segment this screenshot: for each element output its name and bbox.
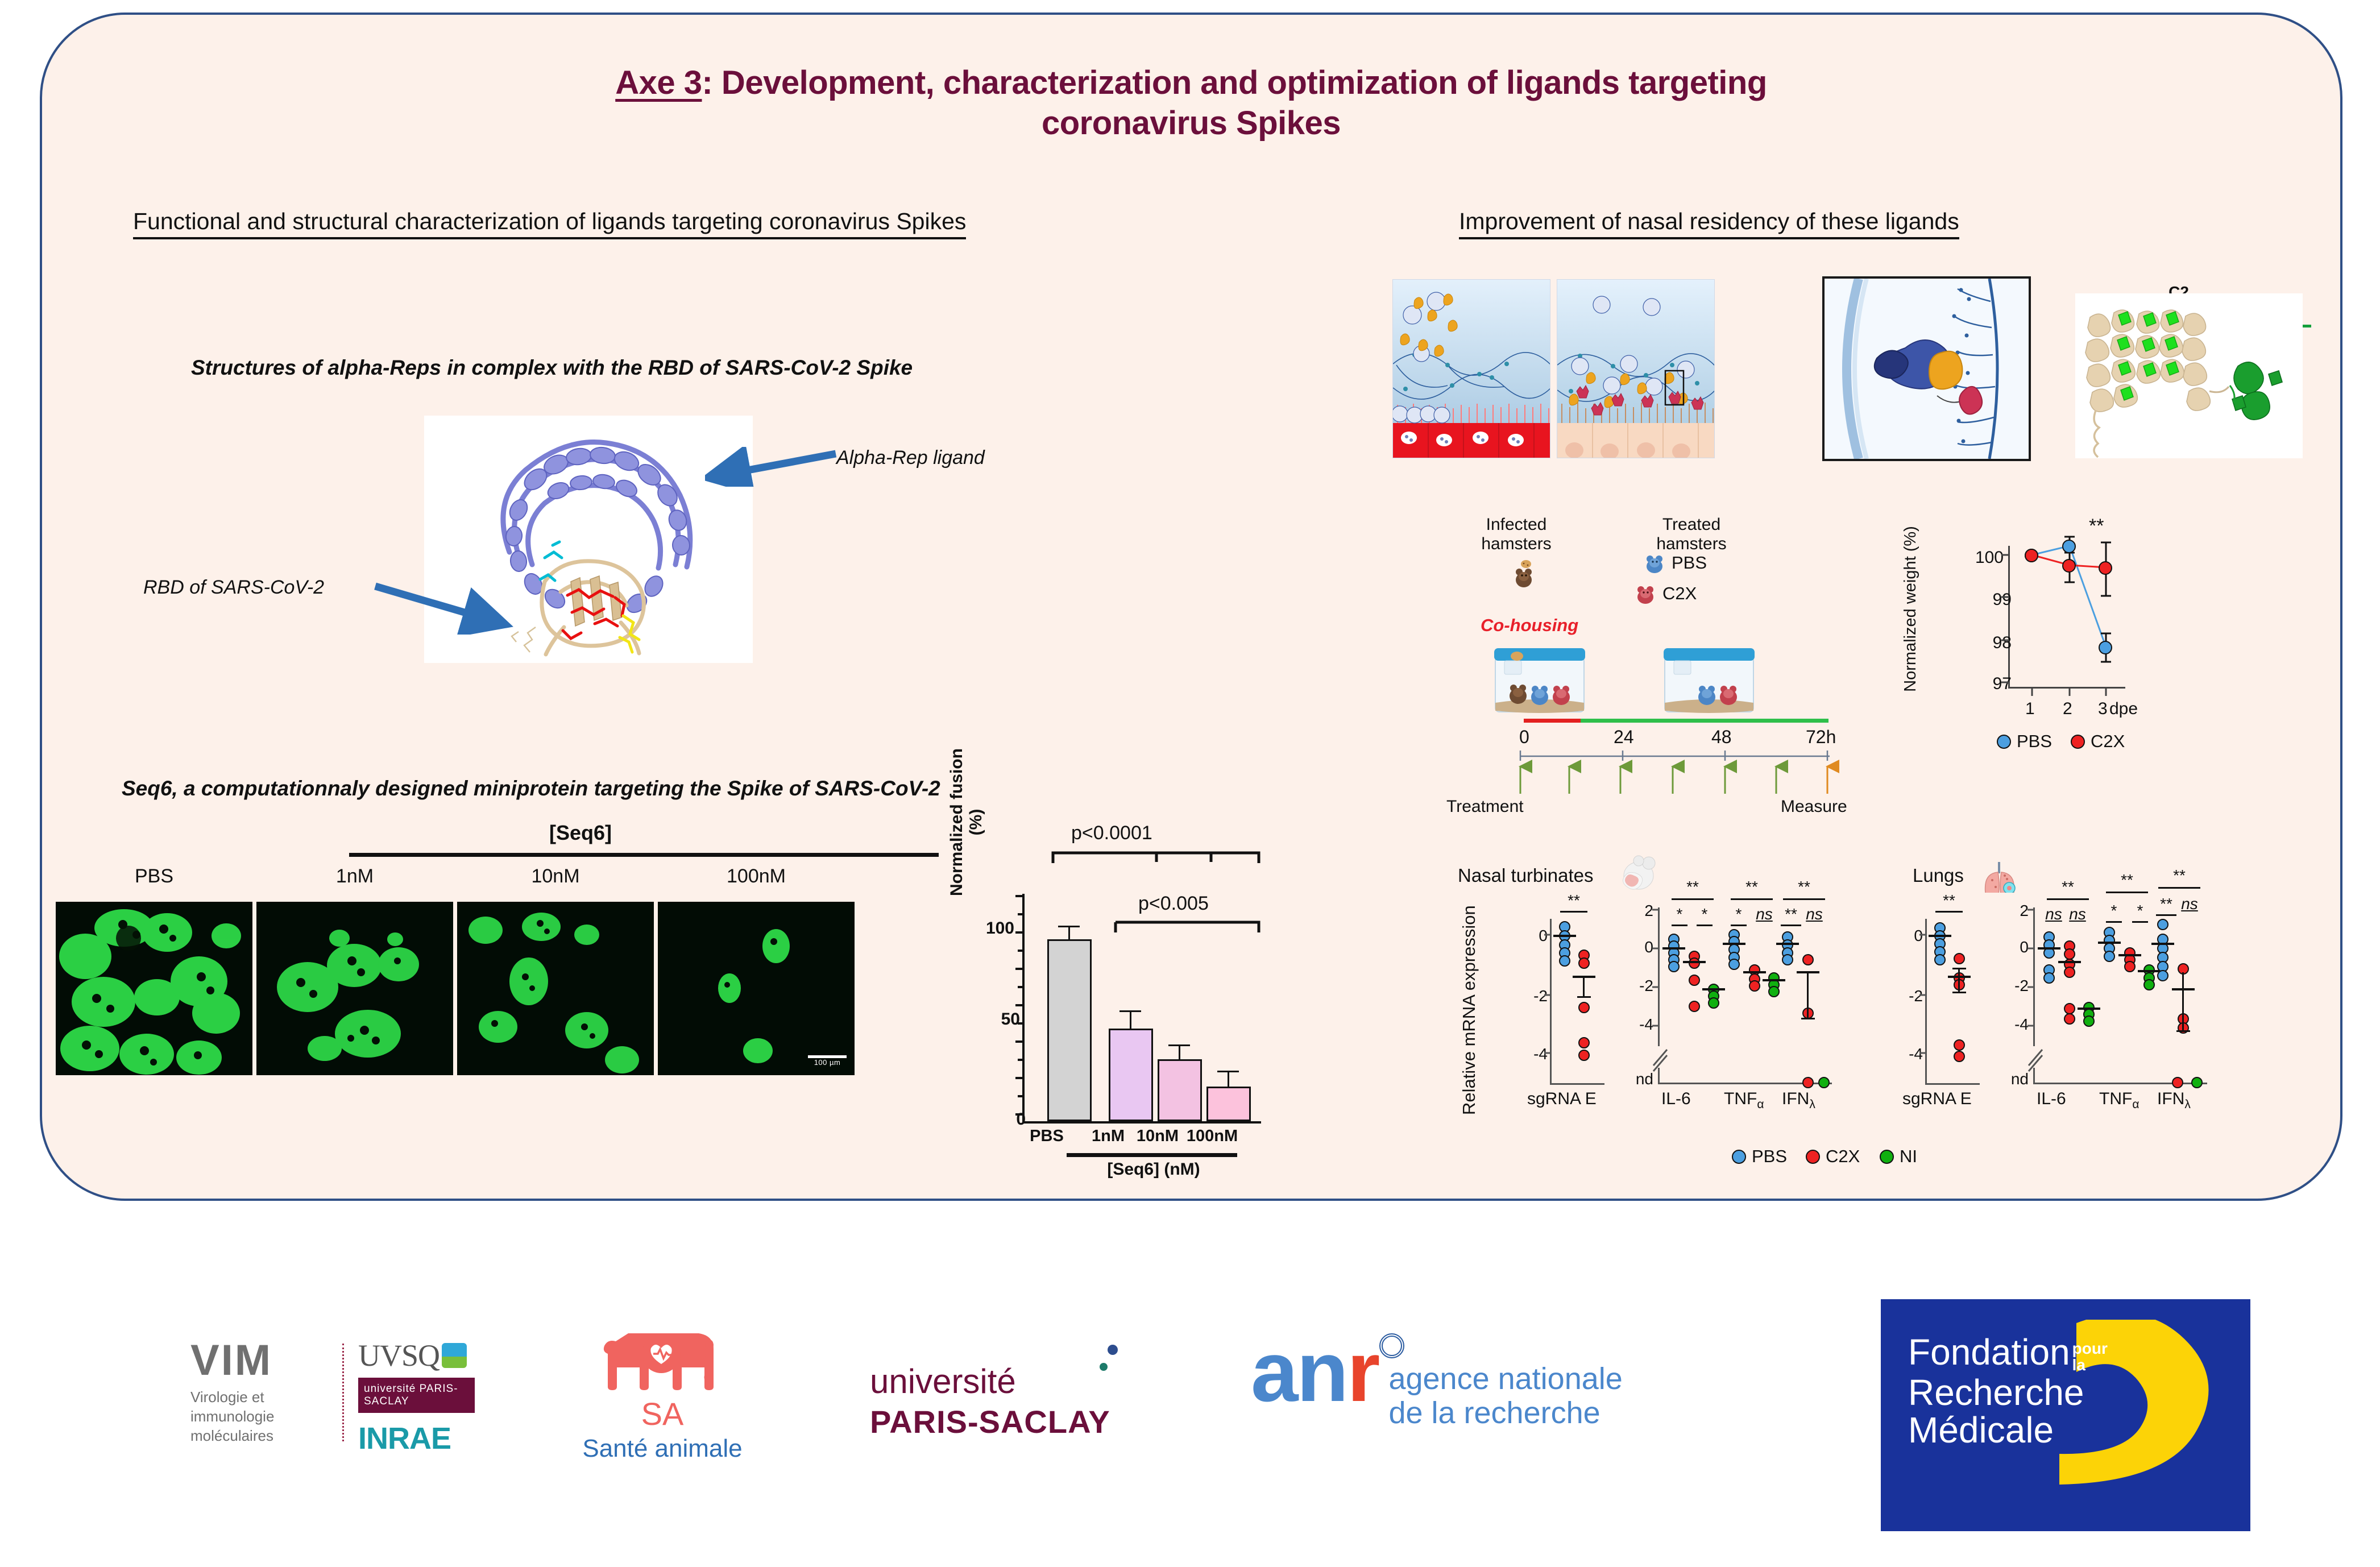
lungs-ifn-sig-left: ** [2156,895,2176,913]
hamster-pbs-icon [1642,548,1668,574]
nasal-cat-tnfa: TNFα [1724,1089,1764,1112]
lungs-cyto-tick-0: 0 [2004,938,2029,956]
nasal-tnf-sig-right: ns [1755,905,1774,923]
lungs-sgrna-tick--4: -4 [1896,1045,1923,1063]
hamster-head-icon [1616,855,1659,893]
nasal-il6-sig-top: ** [1672,878,1714,896]
mean-bar [1723,943,1745,945]
mean-bar [1763,979,1785,981]
sdot [1578,957,1590,969]
micro-label-100nm: 100nM [662,865,850,888]
fusion-errcap-1nm [1119,1010,1141,1012]
c2-x409-svg [2075,293,2303,458]
mean-err [1807,971,1809,1019]
sdot [1818,1077,1830,1088]
epithelium-untreated-svg [1393,280,1550,458]
ups-dot-blue-icon [1108,1345,1118,1355]
timeline-treatment-arrows [1512,760,1840,795]
lungs-il6-sig-right: ns [2067,905,2088,923]
mean-err [1583,976,1585,997]
logo-anr: anr agence nationale de la recherche [1251,1333,1819,1431]
sdot [1559,955,1570,967]
timeline-foot-treatment: Treatment [1446,797,1524,816]
legend-dot-c2x-icon [1806,1150,1820,1164]
scale-bar-label: 100 µm [808,1058,847,1067]
uvsq-crest-icon [442,1343,467,1368]
weight-xtick-1: 1 [2025,699,2035,719]
page-title-rest: : Development, characterization and opti… [702,64,1767,101]
lungs-sgrna-ticks [1919,919,1926,1085]
logo-sa-sub: Santé animale [569,1435,756,1463]
micrograph-100nm-svg [658,902,855,1075]
timeline-tick-24: 24 [1614,727,1634,748]
fusion-bar-chart: p<0.0001 p<0.005 Normalized fusion (%) 1… [957,822,1321,1203]
mean-err-cap-bot [1952,992,1966,993]
fusion-err-pbs [1068,927,1070,939]
logo-divider [342,1344,344,1441]
weight-point-pbs-2 [2062,540,2076,553]
arrow-to-alpha-rep-icon [705,447,841,487]
lungs-cat-ifnl: IFNλ [2157,1089,2191,1112]
logo-anr-sub: agence nationale de la recherche [1388,1362,1622,1431]
lungs-cyto-tick-nd: nd [1999,1070,2029,1088]
sdot [2191,1077,2203,1088]
mean-err [2182,972,2184,1031]
logo-sa-abbr: SA [569,1398,756,1430]
mean-bar [1929,935,1951,937]
page-title-line2: coronavirus Spikes [1042,105,1341,142]
sig-line [2106,921,2122,923]
sig-line [2106,892,2148,893]
mean-bar [2138,970,2161,972]
nasal-cyto-tick-nd: nd [1624,1070,1653,1088]
nasal-sgrna-ticks [1544,919,1551,1085]
annotation-rbd: RBD of SARS-CoV-2 [143,577,324,599]
weight-xtick-dpe: dpe [2109,699,2138,719]
cage-cohousing-svg [1494,647,1585,714]
lungs-cat-tnfa: TNFα [2099,1089,2139,1112]
micrograph-10nm [457,902,654,1075]
seq6-concentration-label: [Seq6] [524,821,637,845]
sig-line [1783,898,1825,900]
micro-label-1nm: 1nM [261,865,449,888]
lungs-sgrna-sigline [1935,911,1963,913]
lungs-ifn-sig-right: ns [2180,895,2199,913]
sdot [1954,953,1965,964]
lungs-cytokine-panel: 2 0 -2 -4 nd ** ns ns ** * * ** ** ns [2004,902,2220,1106]
sdot [2172,1077,2183,1088]
logo-uvsq-abbr: UVSQ [358,1338,439,1373]
mrna-legend-pbs: PBS [1732,1146,1787,1167]
section-header-right: Improvement of nasal residency of these … [1459,208,1959,239]
fusion-xlabel-100nm: 100nM [1180,1127,1244,1146]
legend-dot-pbs-icon [1997,735,2011,749]
sdot [2104,951,2115,962]
lungs-sgrna-panel: 0 -2 -4 ** [1893,919,1984,1106]
mean-bar [1553,935,1576,937]
fusion-err-1nm [1130,1011,1131,1029]
mean-err-cap-top [1952,968,1966,969]
epithelium-panel-treated [1557,279,1715,458]
logo-ups-l1: université [870,1362,1016,1400]
micro-label-pbs: PBS [60,865,248,888]
nasal-cat-ifnl: IFNλ [1782,1089,1815,1112]
mean-bar [2118,954,2141,956]
fusion-bar-pbs [1047,939,1092,1121]
fusion-xlabel-10nm: 10nM [1131,1127,1184,1146]
page-title-prefix: Axe 3 [615,64,702,101]
scale-bar: 100 µm [808,1055,847,1067]
lungs-il6-sig-top: ** [2047,878,2089,896]
logo-uvsq-group: UVSQ université PARIS-SACLAY INRAE [358,1338,483,1456]
logo-uvsq: UVSQ [358,1338,483,1373]
sdot [1934,954,1946,965]
fusion-y-axis-label: Normalized fusion (%) [947,737,986,907]
lungs-icon [1982,855,2020,893]
nasal-cat-il6: IL-6 [1661,1089,1691,1109]
sdot [2064,948,2075,960]
sdot [2064,967,2075,978]
weight-xtick-2: 2 [2063,699,2072,719]
nasal-il6-sig-left: * [1672,905,1687,923]
sdot [2064,1013,2075,1025]
mean-bar [1776,943,1799,945]
logo-paris-saclay: université PARIS-SACLAY [870,1362,1166,1440]
sig-line [2156,914,2176,916]
sig-line [2158,887,2200,889]
nasal-sgrna-sig: ** [1560,892,1587,910]
nasal-sgrna-tick-0: 0 [1520,927,1548,945]
arrow-to-rbd-icon [372,581,514,635]
weight-point-c2x-1 [2025,549,2038,562]
mean-bar [2098,942,2121,944]
sdot [2124,961,2136,972]
mean-bar [2038,947,2060,950]
anr-circle-icon [1379,1333,1404,1358]
mean-bar [1702,988,1725,990]
sdot [1802,954,1814,965]
lungs-title: Lungs [1913,865,1964,886]
nasal-sgrna-xaxis [1550,1083,1604,1085]
lungs-sgrna-tick--2: -2 [1896,987,1923,1005]
sig-line [1781,925,1801,926]
sdot [1689,1001,1700,1012]
logo-frm: Fondation pour la Recherche Médicale [1881,1299,2250,1531]
sdot [2043,972,2055,984]
sig-line [1672,925,1687,926]
mean-bar [1683,961,1706,963]
sdot [1708,997,1719,1009]
lungs-tnf-sig-right: * [2132,902,2148,920]
mrna-legend-ni: NI [1880,1146,1917,1167]
lungs-sgrna-xaxis [1925,1083,1980,1085]
nasal-sgrna-tick-2: -2 [1520,987,1548,1005]
nasal-cyto-tick-0: 0 [1628,938,1653,956]
nasal-sgrna-tick-4: -4 [1520,1045,1548,1063]
fusion-bar-1nm [1109,1029,1153,1121]
subtitle-structures: Structures of alpha-Reps in complex with… [191,356,913,380]
sig-line [2047,898,2089,900]
annotation-alpha-rep-ligand: Alpha-Rep ligand [836,447,985,469]
sdot [1802,1077,1814,1088]
lungs-ifn-sig-top: ** [2158,867,2200,885]
weight-point-c2x-2 [2062,559,2076,573]
cage-treated [1664,647,1755,714]
timeline-c2x-label: C2X [1662,583,1697,604]
fusion-xaxis-label: [Seq6] (nM) [1043,1160,1264,1179]
fusion-err-100nm [1228,1072,1229,1087]
fusion-xlabel-pbs: PBS [1022,1127,1071,1146]
weight-line-chart: Normalized weight (%) 100 99 98 97 1 2 3… [1907,504,2248,771]
sdot [2143,979,2155,990]
fusion-ytick-100: 100 [975,919,1014,938]
lungs-cat-sgrna: sgRNA E [1902,1089,1972,1109]
weight-legend-c2x-label: C2X [2091,731,2125,752]
lungs-tnf-sig-left: * [2106,902,2122,920]
sdot [1578,1037,1590,1048]
sdot [1782,954,1793,965]
micrograph-10nm-svg [457,902,654,1075]
cow-icon [594,1319,731,1398]
lungs-cyto-tick-2: 2 [2004,902,2029,920]
seq6-bracket-bar [349,853,939,857]
mean-bar [2151,943,2174,945]
timeline-foot-measure: Measure [1781,797,1847,816]
subtitle-seq6: Seq6, a computationnaly designed minipro… [122,777,940,801]
lungs-sgrna-sig: ** [1935,892,1963,910]
weight-point-c2x-3 [2099,561,2112,575]
sdot [1689,957,1700,969]
weight-legend-pbs-label: PBS [2017,731,2052,752]
nasal-cyto-tick--2: -2 [1628,977,1653,995]
epithelium-zoom-svg [1825,279,2029,459]
fusion-plot-area [1022,894,1261,1121]
nasal-cyto-ticks [1652,907,1659,1050]
timeline-tick-48: 48 [1711,727,1732,748]
sdot [1668,961,1680,972]
sdot [1954,1051,1965,1062]
legend-dot-ni-icon [1880,1150,1894,1164]
nasal-tnf-sig-top: ** [1731,878,1773,896]
micrograph-1nm-svg [256,902,453,1075]
nasal-cat-sgrna: sgRNA E [1527,1089,1597,1109]
sdot [1578,1050,1590,1061]
pvalue-0001: p<0.0001 [1071,822,1152,844]
sig-line [1697,925,1713,926]
fusion-group-bar [1067,1153,1237,1157]
lungs-cyto-tick--2: -2 [2004,977,2029,995]
micrograph-1nm [256,902,453,1075]
sig-line [1731,898,1773,900]
weight-y-axis-label: Normalized weight (%) [1901,515,1920,703]
nasal-ifn-sig-top: ** [1783,878,1825,896]
c2-x409-structure-image [2075,293,2303,458]
weight-legend-c2x: C2X [2071,731,2125,752]
cage-cohousing [1494,647,1585,714]
logo-row: VIM Virologie et immunologie moléculaire… [0,1271,2380,1555]
fusion-errcap-10nm [1168,1044,1190,1046]
nasal-sgrna-sigline [1560,911,1587,913]
nasal-turbinates-title: Nasal turbinates [1458,865,1593,886]
weight-point-pbs-3 [2099,641,2112,654]
logo-ups-banner: université PARIS-SACLAY [358,1378,475,1413]
sdot [1728,959,1740,970]
legend-dot-pbs-icon [1732,1150,1746,1164]
mrna-legend-pbs-label: PBS [1752,1146,1787,1167]
logo-frm-sup: pour la [2072,1340,2108,1374]
mrna-legend-ni-label: NI [1900,1146,1917,1167]
mean-bar [2058,961,2081,963]
lungs-tnf-sig-top: ** [2106,871,2148,889]
mean-err-cap [1577,996,1591,998]
fusion-errcap-100nm [1217,1071,1239,1072]
timeline-infected-label: Infected hamsters [1462,515,1570,553]
fusion-err-10nm [1179,1046,1180,1059]
weight-ytick-100: 100 [1963,548,2004,567]
nasal-cyto-tick-2: 2 [1628,902,1653,920]
sig-line [1672,898,1714,900]
nasal-sgrna-panel: 0 -2 -4 ** [1518,919,1609,1106]
lungs-sgrna-tick-0: 0 [1896,927,1923,945]
logo-ups-l2: PARIS-SACLAY [870,1403,1166,1440]
mean-bar [2078,1008,2100,1010]
logo-anr-abbr: anr [1251,1324,1378,1419]
fusion-xlabel-1nm: 1nM [1084,1127,1133,1146]
timeline-tick-72h: 72h [1806,727,1836,748]
significance-bracket-top [1051,849,1261,864]
hamster-c2x-icon [1633,579,1659,605]
fusion-bar-10nm [1158,1059,1202,1121]
mean-err-cap [2176,1030,2190,1032]
nasal-tnf-sig-left: * [1731,905,1747,923]
mrna-legend-c2x: C2X [1806,1146,1860,1167]
experiment-timeline: Infected hamsters Treated hamsters PBS [1446,515,1896,799]
logo-vim-subtitle: Virologie et immunologie moléculaires [190,1388,338,1445]
timeline-bar-green [1581,719,1828,723]
sdot [2064,1003,2075,1014]
lungs-cyto-tick--4: -4 [2004,1015,2029,1034]
sdot [1689,975,1700,986]
nasal-ifn-sig-right: ns [1805,905,1824,923]
sdot [2157,970,2168,981]
epithelium-panel-untreated [1392,279,1550,458]
nasal-ifn-sig-left: ** [1781,905,1801,923]
sdot [2157,919,2168,930]
epithelium-zoom-inset [1822,276,2031,461]
timeline-cohousing-label: Co-housing [1481,615,1578,636]
sdot [1954,1039,1965,1051]
sdot [1768,986,1780,997]
mean-bar [1662,947,1685,950]
mrna-legend-c2x-label: C2X [1826,1146,1860,1167]
mean-err [1958,968,1960,993]
section-header-left: Functional and structural characterizati… [133,208,966,239]
timeline-pbs-label: PBS [1672,553,1707,573]
nasal-il6-sig-right: * [1697,905,1713,923]
timeline-tick-0: 0 [1519,727,1529,748]
sdot [2083,1015,2095,1027]
sdot [1749,980,1760,992]
ups-dot-green-icon [1100,1363,1108,1371]
nasal-cytokine-panel: 2 0 -2 -4 nd ** * * ** * ns ** ** ns [1628,902,1844,1106]
mean-bar [1743,971,1766,973]
poster-card: Axe 3: Development, characterization and… [40,13,2342,1201]
fusion-x-axis [1022,1121,1261,1124]
epithelium-treated-svg [1557,280,1715,458]
lungs-cat-il6: IL-6 [2037,1089,2066,1109]
weight-significance: ** [2089,515,2104,537]
logo-sa: SA Santé animale [569,1319,756,1463]
sig-line [1731,925,1747,926]
mean-err-cap [1801,1018,1815,1019]
logo-frm-text: Fondation pour la Recherche Médicale [1908,1333,2250,1449]
weight-legend-pbs: PBS [1997,731,2052,752]
micro-label-10nm: 10nM [462,865,649,888]
mrna-y-axis-label: Relative mRNA expression [1459,905,1479,1115]
page-title: Axe 3: Development, characterization and… [42,63,2340,144]
micrograph-pbs-svg [56,902,252,1075]
logo-vim-abbr: VIM [190,1339,338,1382]
cage-treated-svg [1664,647,1755,714]
sig-line [2132,921,2148,923]
sdot [1578,1002,1590,1013]
lungs-il6-sig-left: ns [2043,905,2064,923]
nasal-cyto-tick--4: -4 [1628,1015,1653,1034]
micrograph-pbs [56,902,252,1075]
micrograph-100nm: 100 µm [658,902,855,1075]
weight-xtick-3: 3 [2098,699,2108,719]
logo-vim: VIM Virologie et immunologie moléculaire… [190,1339,338,1445]
fusion-errcap-pbs [1058,926,1080,927]
logo-inrae: INRAE [358,1421,483,1456]
lungs-cyto-ticks [2027,907,2034,1050]
hamster-infected-icon [1511,559,1539,589]
legend-dot-c2x-icon [2071,735,2085,749]
timeline-bar-red [1524,719,1581,723]
fusion-bar-100nm [1206,1087,1251,1121]
